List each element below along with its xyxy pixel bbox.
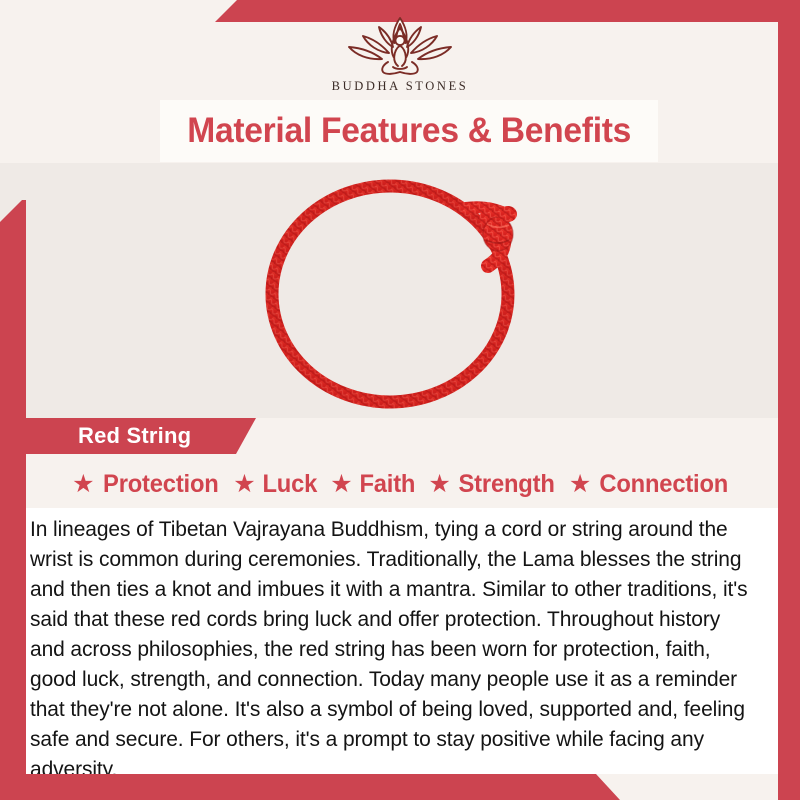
decorative-band-right bbox=[778, 0, 800, 800]
star-icon: ★ bbox=[233, 472, 255, 497]
benefit-label: Luck bbox=[262, 470, 317, 499]
star-icon: ★ bbox=[72, 472, 94, 497]
description-text: In lineages of Tibetan Vajrayana Buddhis… bbox=[30, 514, 755, 784]
benefit-item: ★ Faith bbox=[330, 470, 416, 499]
benefit-label: Strength bbox=[458, 470, 554, 499]
product-label-text: Red String bbox=[78, 423, 191, 449]
star-icon: ★ bbox=[569, 472, 591, 497]
benefit-label: Protection bbox=[103, 470, 219, 499]
benefits-row: ★ Protection ★ Luck ★ Faith ★ Strength ★… bbox=[26, 462, 778, 506]
title-panel: Material Features & Benefits bbox=[160, 100, 658, 162]
description-box: In lineages of Tibetan Vajrayana Buddhis… bbox=[26, 508, 778, 774]
decorative-band-bottom bbox=[0, 774, 620, 800]
infographic-page: BUDDHA STONES Material Features & Benefi… bbox=[0, 0, 800, 800]
page-title: Material Features & Benefits bbox=[187, 111, 631, 151]
product-photo bbox=[0, 163, 800, 418]
benefit-item: ★ Connection bbox=[569, 470, 732, 499]
benefit-label: Connection bbox=[600, 470, 729, 499]
star-icon: ★ bbox=[330, 472, 352, 497]
product-label-ribbon: Red String bbox=[26, 418, 256, 454]
lotus-meditation-icon bbox=[341, 14, 459, 76]
benefit-item: ★ Strength bbox=[428, 470, 557, 499]
decorative-band-left bbox=[0, 200, 26, 800]
brand-header: BUDDHA STONES bbox=[0, 0, 800, 104]
benefit-item: ★ Luck bbox=[233, 470, 318, 499]
brand-wordmark: BUDDHA STONES bbox=[332, 79, 469, 94]
red-string-bracelet-image bbox=[240, 166, 560, 416]
benefit-label: Faith bbox=[359, 470, 415, 499]
benefit-item: ★ Protection bbox=[72, 470, 221, 499]
star-icon: ★ bbox=[428, 472, 450, 497]
